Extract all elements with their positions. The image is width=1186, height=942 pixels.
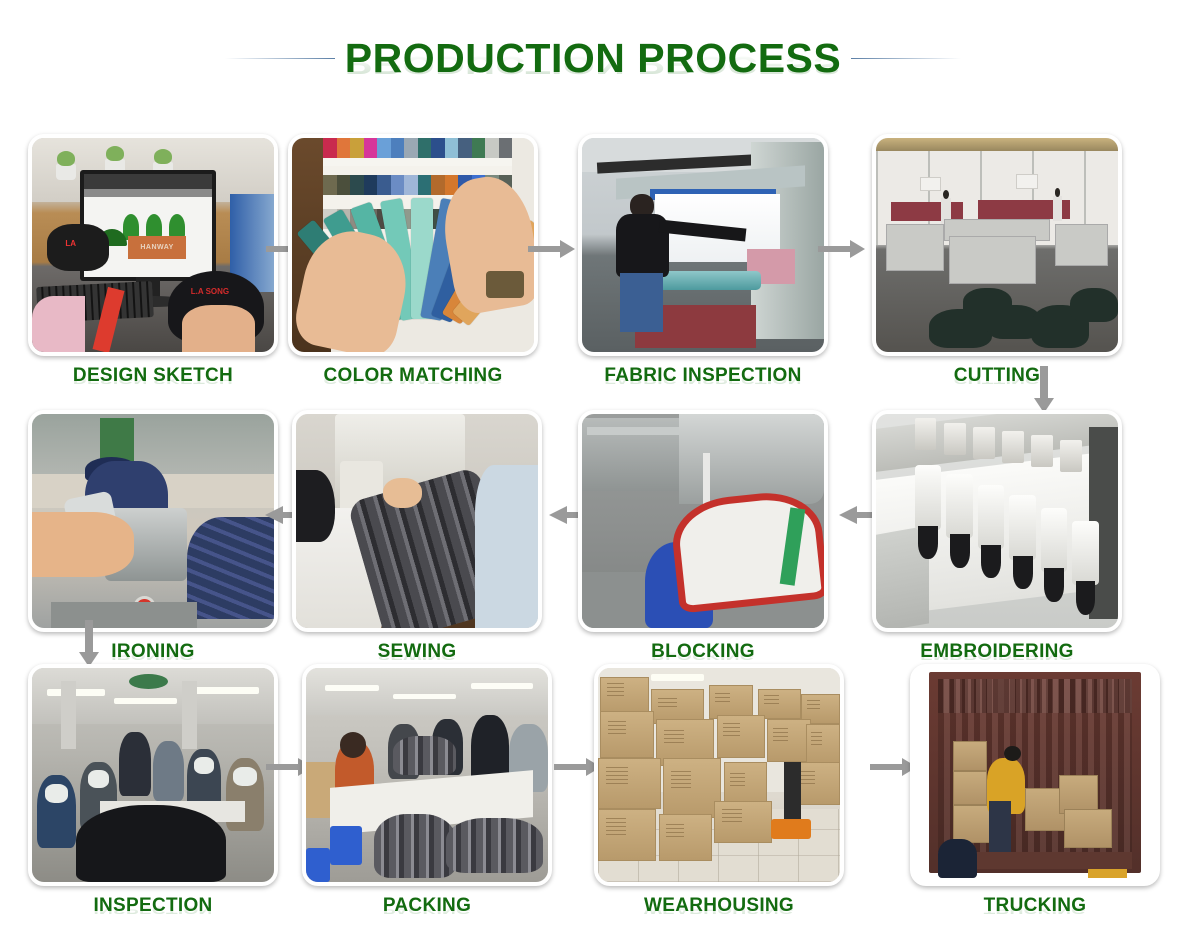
photo-ironing — [28, 410, 278, 632]
step-label-reflection: PACKING — [302, 903, 552, 916]
step-label-cutting: CUTTING CUTTING — [872, 365, 1122, 387]
step-label-design-sketch: DESIGN SKETCH DESIGN SKETCH — [28, 365, 278, 387]
step-label-sewing: SEWING SEWING — [292, 641, 542, 663]
step-card-fabric-inspection[interactable]: FABRIC INSPECTION FABRIC INSPECTION — [578, 134, 828, 387]
photo-design-sketch: HANWAY — [28, 134, 278, 356]
step-label-reflection: CUTTING — [872, 373, 1122, 386]
step-label-packing: PACKING PACKING — [302, 895, 552, 917]
step-label-wearhousing: WEARHOUSING WEARHOUSING — [594, 895, 844, 917]
photo-color-matching — [288, 134, 538, 356]
step-label-reflection: COLOR MATCHING — [288, 373, 538, 386]
step-label-reflection: EMBROIDERING — [872, 649, 1122, 662]
step-label-reflection: IRONING — [28, 649, 278, 662]
photo-sewing — [292, 410, 542, 632]
step-label-inspection: INSPECTION INSPECTION — [28, 895, 278, 917]
process-row-2: IRONING IRONING — [0, 410, 1186, 690]
step-card-ironing[interactable]: IRONING IRONING — [28, 410, 278, 663]
photo-fabric-inspection — [578, 134, 828, 356]
step-label-ironing: IRONING IRONING — [28, 641, 278, 663]
step-label-embroidering: EMBROIDERING EMBROIDERING — [872, 641, 1122, 663]
step-card-blocking[interactable]: BLOCKING BLOCKING — [578, 410, 828, 663]
step-label-reflection: TRUCKING — [910, 903, 1160, 916]
step-label-blocking: BLOCKING BLOCKING — [578, 641, 828, 663]
step-label-reflection: INSPECTION — [28, 903, 278, 916]
production-process-infographic: PRODUCTION PROCESS PRODUCTION PROCESS — [0, 0, 1186, 942]
step-card-wearhousing[interactable]: WEARHOUSING WEARHOUSING — [594, 664, 844, 917]
title-rule-right — [851, 58, 961, 59]
photo-blocking — [578, 410, 828, 632]
photo-trucking — [910, 664, 1160, 886]
page-title: PRODUCTION PROCESS PRODUCTION PROCESS — [0, 34, 1186, 82]
step-card-packing[interactable]: PACKING PACKING — [302, 664, 552, 917]
step-label-trucking: TRUCKING TRUCKING — [910, 895, 1160, 917]
step-card-design-sketch[interactable]: HANWAY DESIGN SKETCH DESIGN SKETCH — [28, 134, 278, 387]
process-row-3: INSPECTION INSPECTION — [0, 664, 1186, 942]
page-title-text: PRODUCTION PROCESS — [345, 34, 842, 82]
photo-cutting — [872, 134, 1122, 356]
photo-inspection — [28, 664, 278, 886]
photo-packing — [302, 664, 552, 886]
step-card-color-matching[interactable]: COLOR MATCHING COLOR MATCHING — [288, 134, 538, 387]
photo-embroidering — [872, 410, 1122, 632]
step-label-fabric-inspection: FABRIC INSPECTION FABRIC INSPECTION — [578, 365, 828, 387]
arrow-color-to-fabric — [528, 238, 576, 260]
step-card-embroidering[interactable]: EMBROIDERING EMBROIDERING — [872, 410, 1122, 663]
step-label-reflection: FABRIC INSPECTION — [578, 373, 828, 386]
step-card-cutting[interactable]: CUTTING CUTTING — [872, 134, 1122, 387]
step-label-color-matching: COLOR MATCHING COLOR MATCHING — [288, 365, 538, 387]
process-row-1: HANWAY DESIGN SKETCH DESIGN SKETCH — [0, 134, 1186, 414]
step-card-sewing[interactable]: SEWING SEWING — [292, 410, 542, 663]
step-label-reflection: DESIGN SKETCH — [28, 373, 278, 386]
arrow-ironing-to-inspection — [78, 620, 100, 668]
step-card-trucking[interactable]: TRUCKING TRUCKING — [910, 664, 1160, 917]
title-rule-left — [225, 58, 335, 59]
arrow-fabric-to-cutting — [818, 238, 866, 260]
step-label-reflection: BLOCKING — [578, 649, 828, 662]
step-label-reflection: WEARHOUSING — [594, 903, 844, 916]
photo-wearhousing — [594, 664, 844, 886]
step-card-inspection[interactable]: INSPECTION INSPECTION — [28, 664, 278, 917]
step-label-reflection: SEWING — [292, 649, 542, 662]
arrow-cutting-to-embroidering — [1033, 366, 1055, 414]
